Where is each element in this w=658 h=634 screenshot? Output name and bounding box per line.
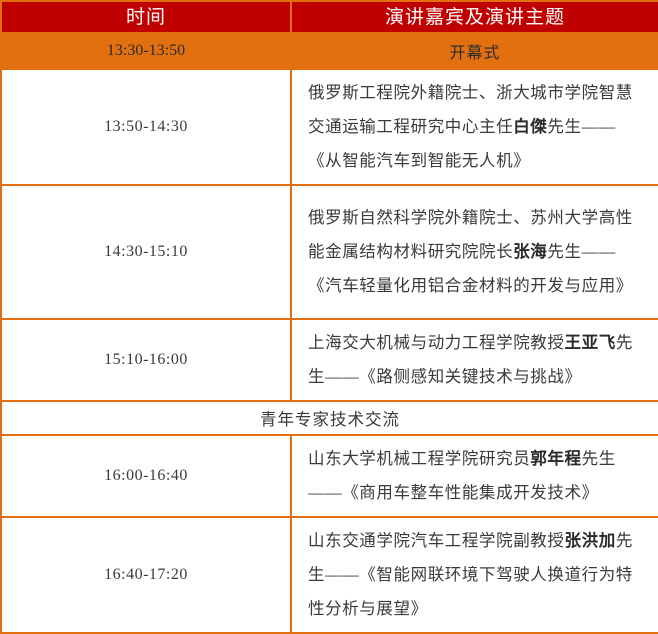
time-cell: 15:10-16:00 bbox=[1, 319, 291, 401]
speaker-name: 张海 bbox=[513, 242, 547, 261]
table-row: 16:40-17:20 山东交通学院汽车工程学院副教授张洪加先生——《智能网联环… bbox=[1, 517, 658, 633]
table-row: 14:30-15:10 俄罗斯自然科学院外籍院士、苏州大学高性能金属结构材料研究… bbox=[1, 185, 658, 319]
speaker-name: 王亚飞 bbox=[565, 333, 616, 352]
topic-cell: 山东交通学院汽车工程学院副教授张洪加先生——《智能网联环境下驾驶人换道行为特性分… bbox=[291, 517, 658, 633]
speaker-name: 白傑 bbox=[513, 117, 547, 136]
column-header-time: 时间 bbox=[1, 1, 291, 33]
topic-text: 上海交大机械与动力工程学院教授 bbox=[308, 333, 565, 352]
speaker-name: 郭年程 bbox=[530, 449, 581, 468]
table-row-section: 青年专家技术交流 bbox=[1, 401, 658, 435]
time-cell: 16:00-16:40 bbox=[1, 435, 291, 517]
speaker-name: 张洪加 bbox=[565, 531, 616, 550]
topic-cell: 俄罗斯自然科学院外籍院士、苏州大学高性能金属结构材料研究院院长张海先生——《汽车… bbox=[291, 185, 658, 319]
table-row: 13:50-14:30 俄罗斯工程院外籍院士、浙大城市学院智慧交通运输工程研究中… bbox=[1, 69, 658, 185]
column-header-topic: 演讲嘉宾及演讲主题 bbox=[291, 1, 658, 33]
time-cell: 16:40-17:20 bbox=[1, 517, 291, 633]
agenda-table: 时间 演讲嘉宾及演讲主题 13:30-13:50 开幕式 13:50-14:30… bbox=[0, 0, 658, 634]
header-row: 时间 演讲嘉宾及演讲主题 bbox=[1, 1, 658, 33]
time-cell: 13:50-14:30 bbox=[1, 69, 291, 185]
table-header: 时间 演讲嘉宾及演讲主题 bbox=[1, 1, 658, 33]
table-row: 15:10-16:00 上海交大机械与动力工程学院教授王亚飞先生——《路侧感知关… bbox=[1, 319, 658, 401]
table-body: 13:30-13:50 开幕式 13:50-14:30 俄罗斯工程院外籍院士、浙… bbox=[1, 33, 658, 633]
topic-cell: 上海交大机械与动力工程学院教授王亚飞先生——《路侧感知关键技术与挑战》 bbox=[291, 319, 658, 401]
topic-cell: 山东大学机械工程学院研究员郭年程先生——《商用车整车性能集成开发技术》 bbox=[291, 435, 658, 517]
table-row: 16:00-16:40 山东大学机械工程学院研究员郭年程先生——《商用车整车性能… bbox=[1, 435, 658, 517]
topic-cell: 开幕式 bbox=[291, 33, 658, 69]
topic-text: 山东大学机械工程学院研究员 bbox=[308, 449, 530, 468]
topic-text: 山东交通学院汽车工程学院副教授 bbox=[308, 531, 565, 550]
section-title: 青年专家技术交流 bbox=[1, 401, 658, 435]
time-cell: 13:30-13:50 bbox=[1, 33, 291, 69]
table-row-opening: 13:30-13:50 开幕式 bbox=[1, 33, 658, 69]
time-cell: 14:30-15:10 bbox=[1, 185, 291, 319]
topic-cell: 俄罗斯工程院外籍院士、浙大城市学院智慧交通运输工程研究中心主任白傑先生——《从智… bbox=[291, 69, 658, 185]
